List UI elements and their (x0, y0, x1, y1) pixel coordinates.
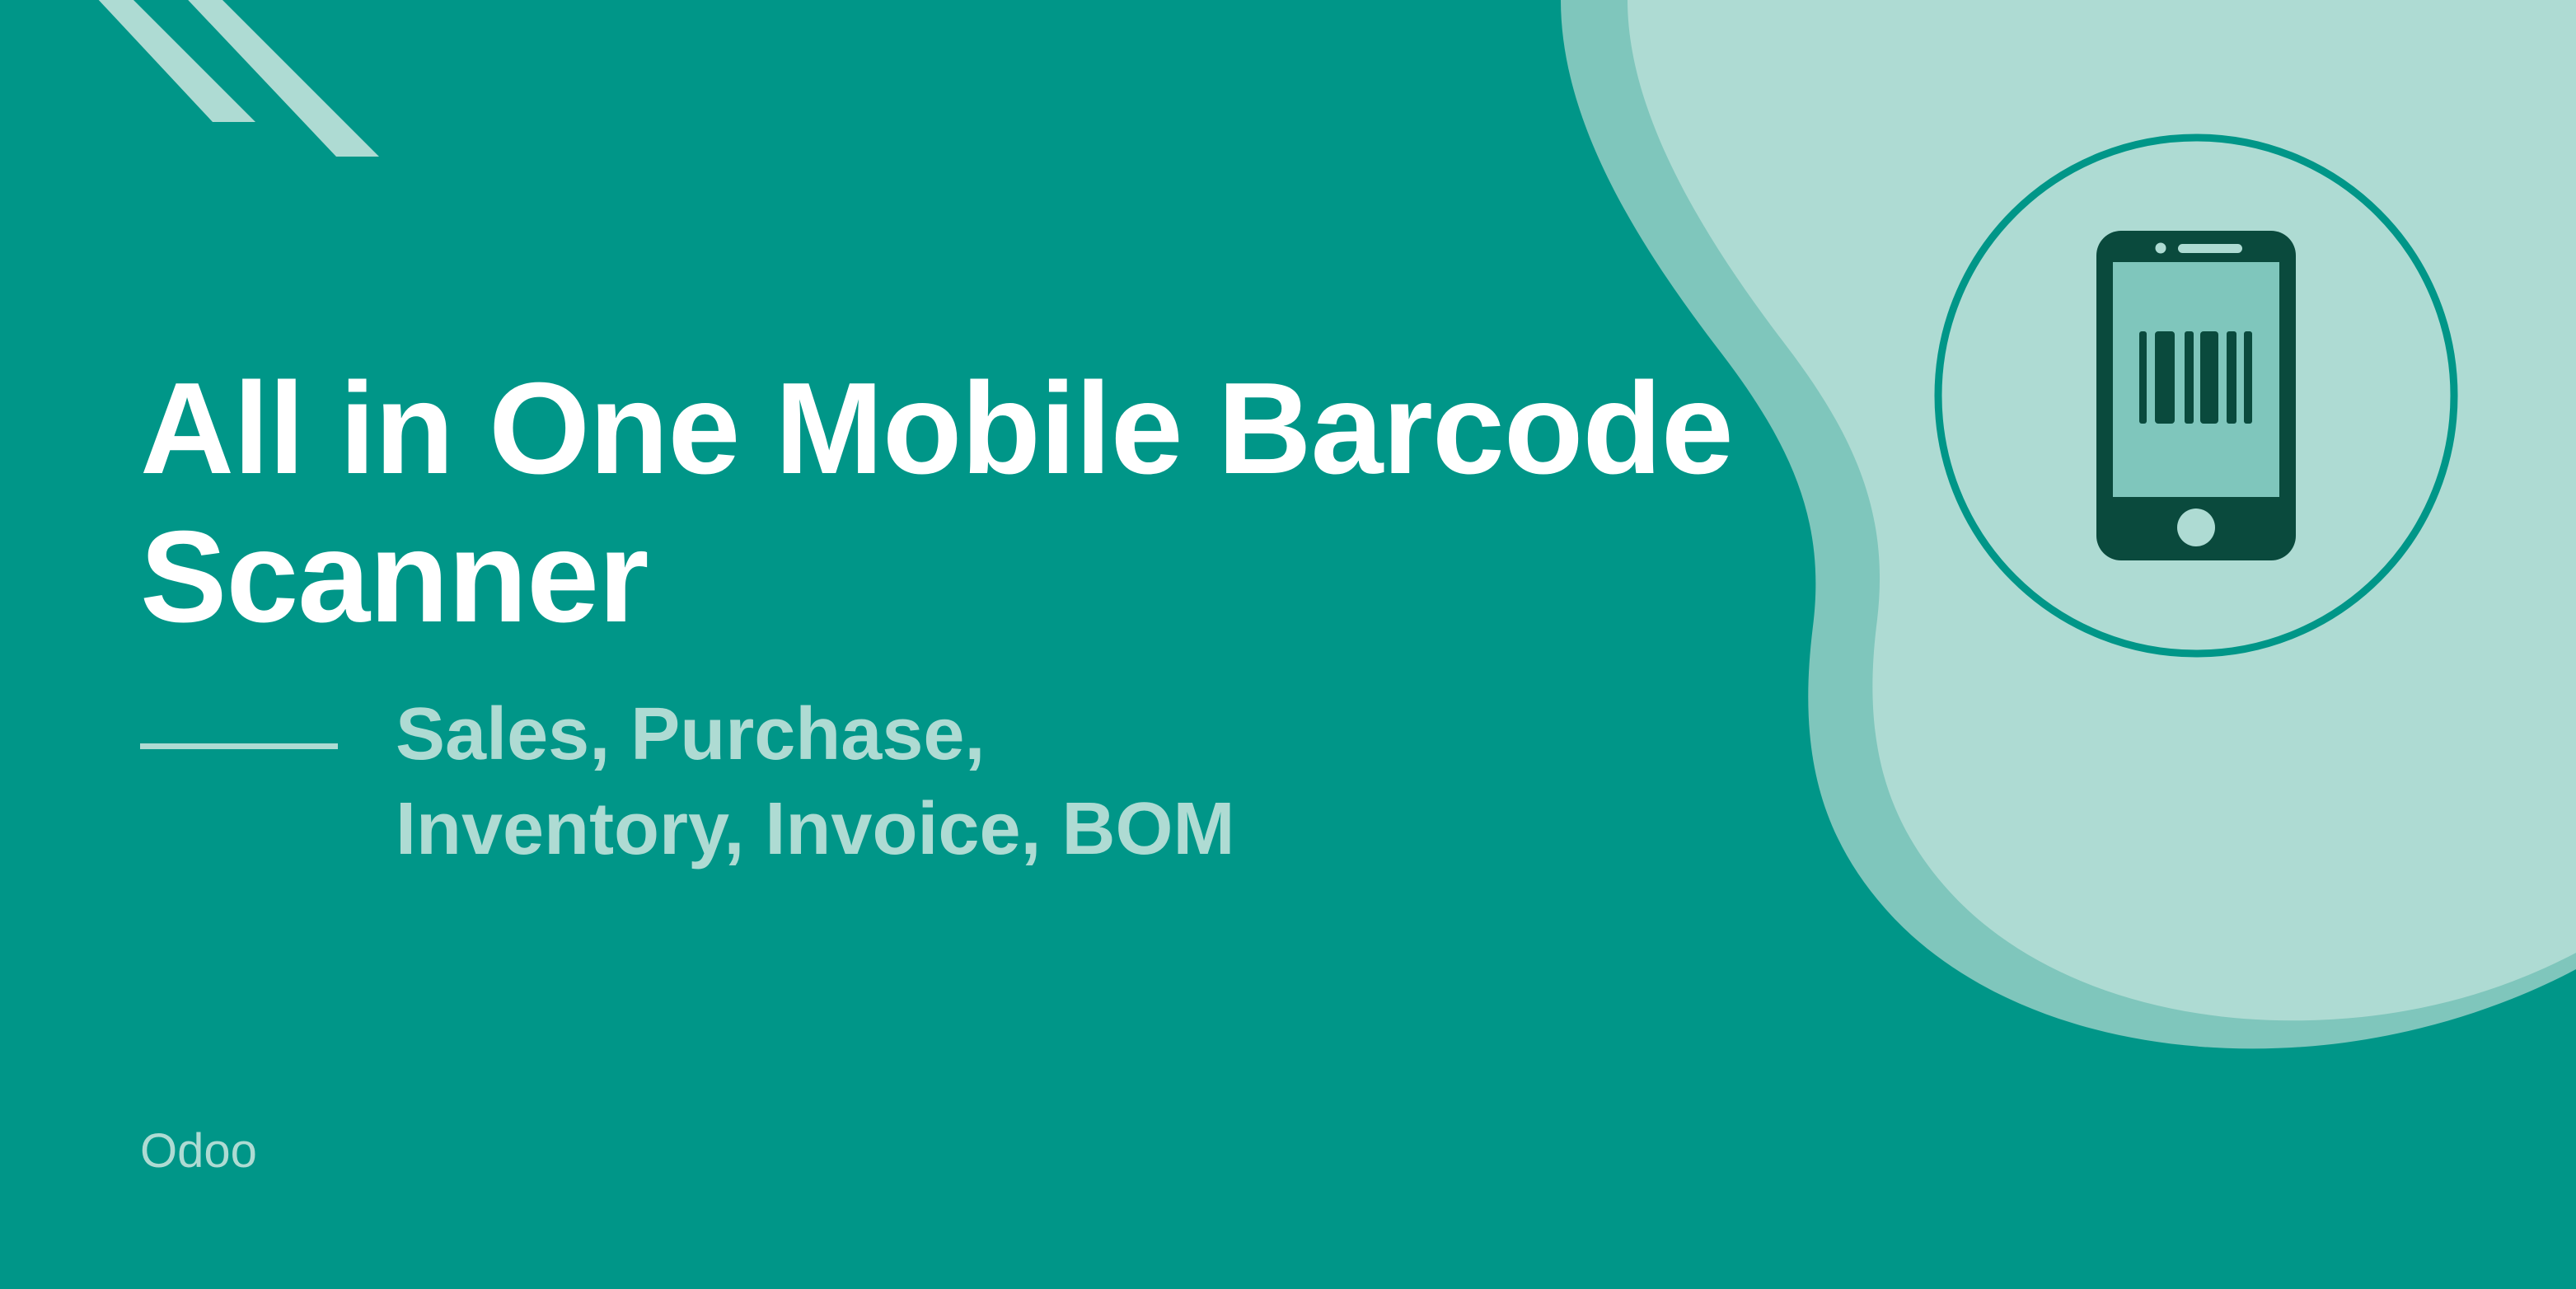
barcode-bar (2185, 331, 2194, 424)
phone-home-button (2177, 509, 2215, 546)
presentation-slide: All in One Mobile Barcode Scanner Sales,… (0, 0, 2576, 1289)
brand-label: Odoo (140, 1127, 257, 1175)
subtitle-rule (140, 743, 338, 749)
barcode-bar (2227, 331, 2236, 424)
smartphone-icon (2096, 231, 2296, 560)
mobile-barcode-scanner-icon (1916, 115, 2476, 676)
barcode-bar (2244, 331, 2252, 424)
barcode-bar (2155, 331, 2175, 424)
phone-speaker-icon (2178, 244, 2242, 253)
slide-text-block: All in One Mobile Barcode Scanner Sales,… (140, 354, 1755, 878)
subtitle-row: Sales, Purchase, Inventory, Invoice, BOM (140, 687, 1755, 877)
phone-camera-icon (2156, 243, 2166, 254)
diagonal-stripes (73, 0, 379, 157)
slide-subtitle: Sales, Purchase, Inventory, Invoice, BOM (396, 687, 1351, 877)
barcode-bar (2200, 331, 2218, 424)
barcode-bar (2139, 331, 2147, 424)
phone-screen (2113, 262, 2279, 497)
slide-title: All in One Mobile Barcode Scanner (140, 354, 1755, 651)
